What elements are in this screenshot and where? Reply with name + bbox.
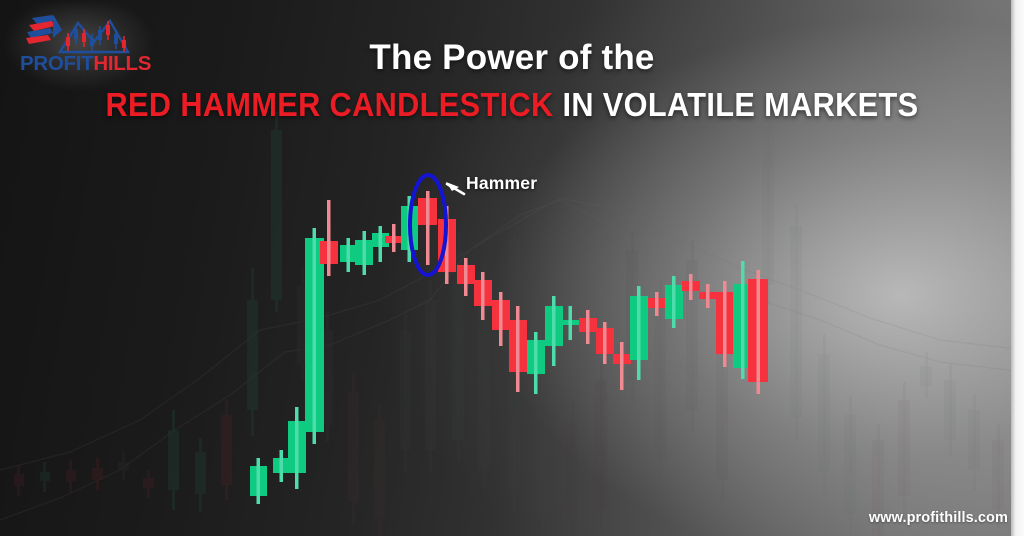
candle-series bbox=[250, 191, 768, 504]
site-url-watermark: www.profithills.com bbox=[869, 510, 1008, 526]
hammer-arrow-icon bbox=[446, 182, 464, 194]
brand-logo[interactable]: PROFITHILLS bbox=[14, 12, 142, 80]
brand-wordmark: PROFITHILLS bbox=[20, 52, 151, 76]
brand-name-part2: HILLS bbox=[93, 52, 151, 75]
poster-canvas: PROFITHILLS The Power of the RED HAMMER … bbox=[0, 0, 1024, 536]
brand-name-part1: PROFIT bbox=[20, 52, 93, 75]
hammer-annotation-label: Hammer bbox=[466, 173, 537, 194]
right-edge-strip bbox=[1011, 0, 1024, 536]
profithills-candlestick-logo-icon bbox=[22, 12, 136, 56]
